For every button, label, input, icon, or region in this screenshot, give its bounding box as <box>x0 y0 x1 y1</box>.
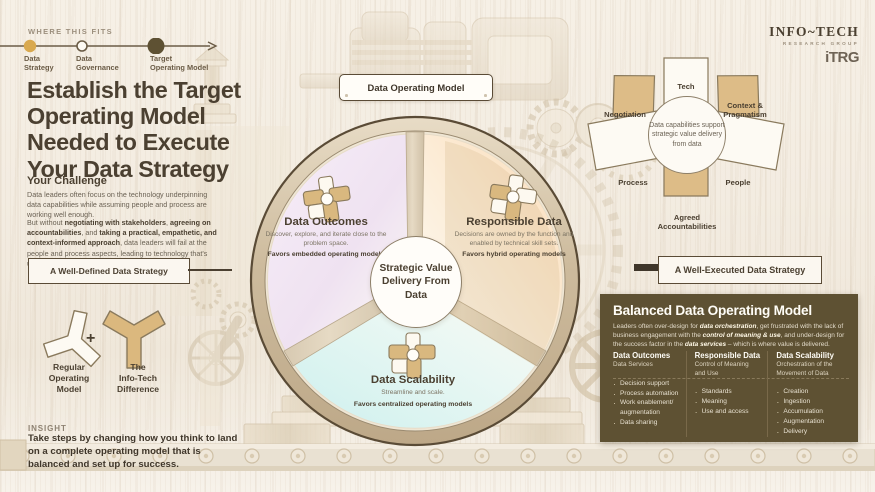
panel-columns: Data Outcomes Data Services Decision sup… <box>613 351 849 437</box>
column-heading: Data Scalability <box>776 351 842 360</box>
panel-intro-1: Leaders often over-design for <box>613 323 700 330</box>
wheel-hub: Strategic Value Delivery From Data <box>370 236 462 328</box>
bullet-item: Decision support <box>613 379 679 389</box>
bullet-item: Augmentation <box>776 417 842 427</box>
well-executed-data-strategy-box[interactable]: A Well-Executed Data Strategy <box>658 256 822 284</box>
panel-column-responsible-data: Responsible Data Control of Meaning and … <box>686 351 768 437</box>
plus-symbol: + <box>86 330 95 348</box>
panel-column-data-scalability: Data Scalability Orchestration of the Mo… <box>767 351 849 437</box>
hex-core-text: Data capabilities support strategic valu… <box>649 121 725 148</box>
info-tech-difference-label: TheInfo-TechDifference <box>100 362 176 396</box>
hex-core-circle: Data capabilities support strategic valu… <box>648 96 726 174</box>
column-heading: Responsible Data <box>695 351 761 360</box>
challenge-bold-1: negotiating with stakeholders <box>65 218 166 227</box>
column-bullets: Creation Ingestion Accumulation Augmenta… <box>776 387 842 436</box>
column-heading: Data Outcomes <box>613 351 679 360</box>
segment-title: Data Outcomes <box>264 216 388 229</box>
segment-data-scalability[interactable]: Data Scalability Streamline and scale. F… <box>338 374 488 409</box>
bullet-item: Data sharing <box>613 418 679 428</box>
logo-subtitle: RESEARCH GROUP <box>769 41 859 46</box>
page-title: Establish the TargetOperating ModelNeede… <box>27 77 287 182</box>
panel-column-data-outcomes: Data Outcomes Data Services Decision sup… <box>613 351 686 437</box>
segment-responsible-data[interactable]: Responsible Data Decisions are owned by … <box>450 216 578 260</box>
panel-intro-bold-1: data orchestration <box>700 323 757 330</box>
challenge-p2-prefix: But without <box>27 218 65 227</box>
segment-favors: Favors centralized operating models <box>338 401 488 410</box>
well-defined-connector <box>188 269 232 271</box>
segment-favors: Favors embedded operating models <box>264 251 388 260</box>
panel-intro-4: – which is where value is delivered. <box>726 341 830 348</box>
y-shape-regular <box>41 306 108 368</box>
segment-subtitle: Decisions are owned by the function and … <box>450 231 578 249</box>
challenge-heading: Your Challenge <box>27 175 107 187</box>
data-operating-model-chip[interactable]: Data Operating Model <box>339 74 493 101</box>
column-bullets: Standards Meaning Use and access <box>695 387 761 417</box>
panel-intro-bold-2: control of meaning & use <box>703 332 781 339</box>
where-this-fits-kicker: WHERE THIS FITS <box>28 27 113 36</box>
bullet-item: Standards <box>695 387 761 397</box>
panel-intro: Leaders often over-design for data orche… <box>613 322 847 350</box>
wheel-hub-text: Strategic Value Delivery From Data <box>371 262 461 302</box>
well-defined-data-strategy-box[interactable]: A Well-Defined Data Strategy <box>28 258 190 284</box>
challenge-paragraph-1: Data leaders often focus on the technolo… <box>27 190 223 221</box>
balanced-data-operating-model-panel: Balanced Data Operating Model Leaders of… <box>600 294 858 442</box>
panel-title: Balanced Data Operating Model <box>613 303 812 318</box>
y-shape-infotech <box>103 311 165 368</box>
insight-kicker: INSIGHT <box>28 424 67 433</box>
column-subheading: Orchestration of the Movement of Data <box>776 361 842 378</box>
timeline-dot-target-operating-model <box>148 38 165 54</box>
challenge-mid-2: , and <box>81 228 99 237</box>
bullet-item: Creation <box>776 387 842 397</box>
bullet-item: Process automation <box>613 389 679 399</box>
timeline-dot-data-strategy <box>25 41 36 52</box>
timeline-label-target-operating-model[interactable]: TargetOperating Model <box>150 54 208 73</box>
logo-wordmark: INFO~TECH <box>769 24 859 40</box>
timeline-dot-data-governance <box>77 41 87 51</box>
timeline <box>0 38 240 54</box>
bullet-list: Creation Ingestion Accumulation Augmenta… <box>776 387 842 436</box>
segment-title: Data Scalability <box>338 374 488 387</box>
segment-subtitle: Streamline and scale. <box>338 389 488 398</box>
column-subheading: Control of Meaning and Use <box>695 361 761 378</box>
logo-mark: iTRG <box>769 49 859 66</box>
bullet-item: Meaning <box>695 397 761 407</box>
bullet-item: Work enablement/ augmentation <box>613 398 679 418</box>
column-bullets: Decision support Process automation Work… <box>613 379 679 428</box>
segment-subtitle: Discover, explore, and iterate close to … <box>264 231 388 249</box>
segment-favors: Favors hybrid operating models <box>450 251 578 260</box>
insight-body: Take steps by changing how you think to … <box>28 433 242 472</box>
infographic-canvas: WHERE THIS FITS DataStrategy DataGoverna… <box>0 0 875 492</box>
info-tech-logo: INFO~TECH RESEARCH GROUP iTRG <box>769 24 859 66</box>
bullet-item: Use and access <box>695 407 761 417</box>
bullet-item: Ingestion <box>776 397 842 407</box>
segment-title: Responsible Data <box>450 216 578 229</box>
column-subheading: Data Services <box>613 361 679 369</box>
timeline-label-data-strategy[interactable]: DataStrategy <box>24 54 54 73</box>
timeline-label-data-governance[interactable]: DataGovernance <box>76 54 119 73</box>
bullet-list: Decision support Process automation Work… <box>613 379 679 428</box>
bullet-list: Standards Meaning Use and access <box>695 387 761 417</box>
panel-intro-bold-3: data services <box>685 341 726 348</box>
segment-data-outcomes[interactable]: Data Outcomes Discover, explore, and ite… <box>264 216 388 260</box>
bullet-item: Delivery <box>776 427 842 437</box>
bullet-item: Accumulation <box>776 407 842 417</box>
